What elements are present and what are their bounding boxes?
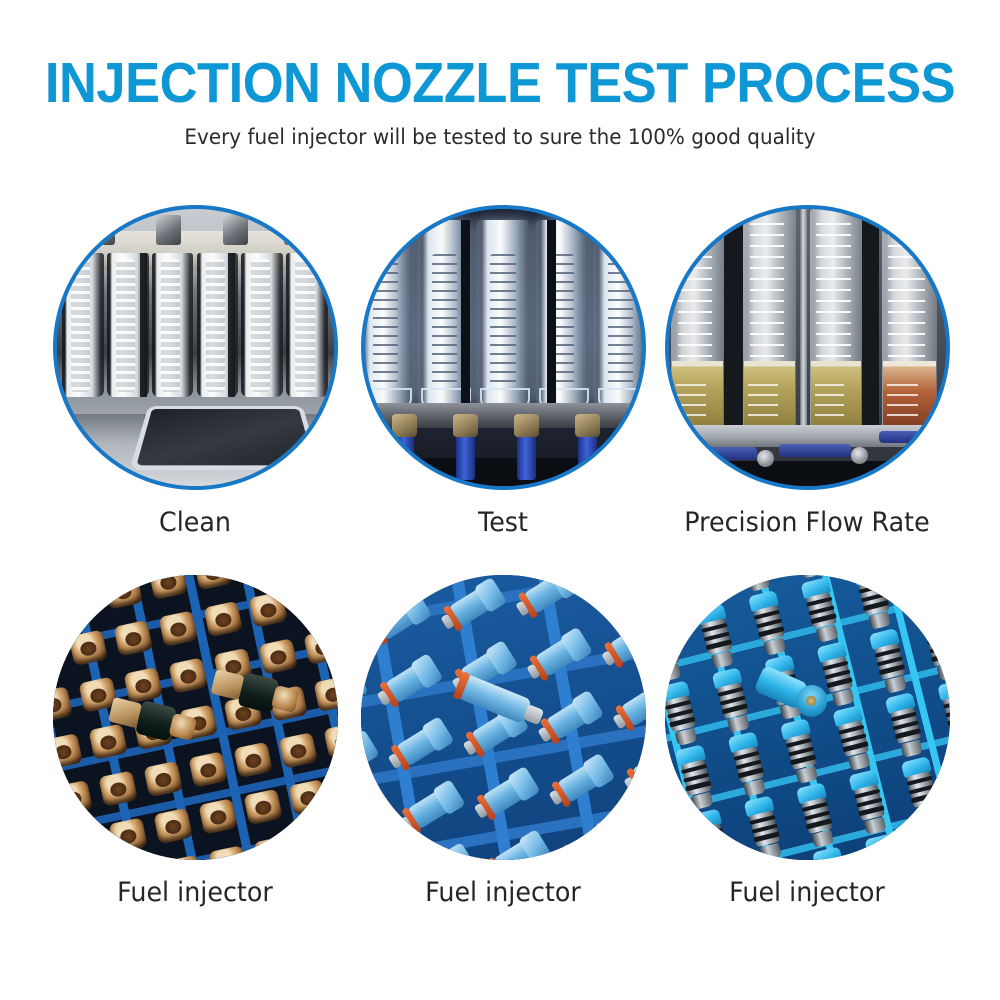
- fuel-injector-unit: [470, 767, 538, 825]
- fuel-injector-unit: [934, 678, 950, 746]
- fuel-injector-unit: [406, 843, 474, 860]
- fuel-injector-unit: [688, 808, 736, 860]
- fuel-injector-unit: [692, 602, 740, 670]
- fuel-injector-unit: [481, 830, 549, 860]
- fuel-injector-unit: [881, 691, 929, 759]
- fuel-injector-unit: [373, 654, 441, 712]
- fuel-injector-unit: [597, 614, 645, 672]
- fuel-injector-unit: [361, 575, 420, 586]
- fuel-injector-unit: [620, 740, 646, 798]
- fuel-injector-unit: [384, 717, 452, 775]
- injector-top: [108, 818, 147, 854]
- injector-top: [53, 686, 73, 722]
- injector-top: [153, 808, 192, 844]
- injector-top: [298, 826, 337, 860]
- injector-top: [278, 732, 317, 768]
- injector-top: [333, 770, 337, 806]
- fuel-injector-unit: [897, 755, 945, 823]
- photo-test: [361, 205, 646, 490]
- injector-top: [198, 799, 237, 835]
- injector-tray-cyan-illustration: [665, 575, 950, 860]
- fuel-injector-unit: [672, 744, 720, 812]
- fuel-injector-unit: [676, 575, 724, 607]
- injector-top: [203, 601, 242, 637]
- fuel-injector-unit: [861, 832, 909, 860]
- injector-top: [63, 827, 102, 860]
- fuel-injector-unit: [665, 615, 688, 683]
- injector-top: [208, 845, 247, 860]
- injector-top: [158, 611, 197, 647]
- fuel-injector-unit: [665, 821, 684, 860]
- caption-step-1: Clean: [51, 506, 339, 540]
- fuel-injector-unit: [665, 575, 672, 620]
- caption-step-5: Fuel injector: [359, 876, 647, 910]
- injector-top: [313, 676, 337, 712]
- fuel-injector-unit: [511, 575, 579, 623]
- fuel-injector-unit: [777, 717, 825, 785]
- injector-top: [53, 837, 58, 860]
- fuel-injector-unit: [608, 677, 645, 735]
- process-step-precision-flow-rate: Precision Flow Rate: [654, 205, 960, 540]
- caption-step-4: Fuel injector: [51, 876, 339, 910]
- fuel-injector-unit: [523, 628, 591, 686]
- injector-top: [58, 583, 97, 619]
- fuel-injector-unit: [556, 817, 624, 860]
- fuel-injector-unit: [865, 627, 913, 695]
- injector-top: [68, 630, 107, 666]
- fuel-injector-unit: [797, 576, 845, 644]
- photo-precision-flow-rate: [665, 205, 950, 490]
- injector-top: [233, 742, 272, 778]
- fuel-injector-unit: [793, 781, 841, 849]
- injector-top: [103, 575, 142, 610]
- injector-top: [53, 780, 92, 816]
- fuel-injector-unit: [361, 730, 378, 788]
- infographic-page: INJECTION NOZZLE TEST PROCESS Every fuel…: [0, 0, 1000, 1000]
- injector-top: [168, 658, 207, 694]
- fuel-injector-unit: [437, 578, 505, 636]
- fuel-injector-unit: [745, 589, 793, 657]
- fuel-injector-unit: [913, 819, 949, 860]
- process-step-fuel-injector-2: Fuel injector: [350, 575, 656, 910]
- fuel-injector-unit: [740, 794, 788, 860]
- injector-top: [53, 733, 83, 769]
- fuel-injector-unit: [665, 757, 668, 825]
- injector-top: [148, 575, 187, 600]
- process-step-fuel-injector-3: Fuel injector: [654, 575, 960, 910]
- injector-top: [303, 629, 337, 665]
- injector-tray-blue-illustration: [361, 575, 646, 860]
- injector-tray-brown-illustration: [53, 575, 338, 860]
- injector-top: [98, 771, 137, 807]
- fuel-injector-unit: [361, 793, 389, 851]
- fuel-injector-unit: [361, 667, 367, 725]
- injector-top: [248, 592, 287, 628]
- injector-top: [243, 789, 282, 825]
- injector-top: [143, 761, 182, 797]
- caption-step-6: Fuel injector: [663, 876, 951, 910]
- injector-top: [113, 620, 152, 656]
- fuel-injector-unit: [361, 856, 400, 860]
- caption-step-3: Precision Flow Rate: [663, 506, 951, 540]
- fuel-injector-unit: [918, 614, 950, 682]
- test-tubes-illustration: [365, 209, 642, 486]
- fuel-injector-unit: [708, 666, 756, 734]
- fuel-injector-unit: [724, 730, 772, 798]
- process-step-fuel-injector-1: Fuel injector: [42, 575, 348, 910]
- process-grid: Clean: [0, 0, 1000, 1000]
- photo-fuel-injector-cyan: [665, 575, 950, 860]
- process-step-test: Test: [350, 205, 656, 540]
- injector-top: [238, 575, 277, 581]
- injector-top: [188, 752, 227, 788]
- photo-clean: [53, 205, 338, 490]
- injector-top: [163, 855, 202, 860]
- fuel-injector-unit: [395, 780, 463, 838]
- injector-top: [293, 582, 332, 618]
- injector-top: [253, 836, 292, 860]
- injector-top: [53, 639, 63, 675]
- injector-top: [193, 575, 232, 591]
- fuel-injector-unit: [631, 803, 646, 860]
- fuel-injector-unit: [362, 591, 430, 649]
- process-step-clean: Clean: [42, 205, 348, 540]
- caption-step-2: Test: [359, 506, 647, 540]
- fuel-injector-unit: [845, 768, 893, 836]
- injector-top: [288, 779, 327, 815]
- fuel-injector-unit: [665, 679, 704, 747]
- photo-fuel-injector-brown: [53, 575, 338, 860]
- fuel-injector-unit: [534, 691, 602, 749]
- injector-top: [323, 723, 337, 759]
- flow-cylinders-illustration: [669, 209, 946, 486]
- fuel-injector-unit: [586, 575, 645, 610]
- ultrasonic-cleaner-illustration: [57, 209, 334, 486]
- fuel-injector-unit: [829, 704, 877, 772]
- injector-top: [258, 639, 297, 675]
- photo-fuel-injector-blue: [361, 575, 646, 860]
- fuel-injector-unit: [545, 754, 613, 812]
- fuel-injector-unit: [902, 575, 950, 618]
- fuel-injector-unit: [849, 575, 897, 632]
